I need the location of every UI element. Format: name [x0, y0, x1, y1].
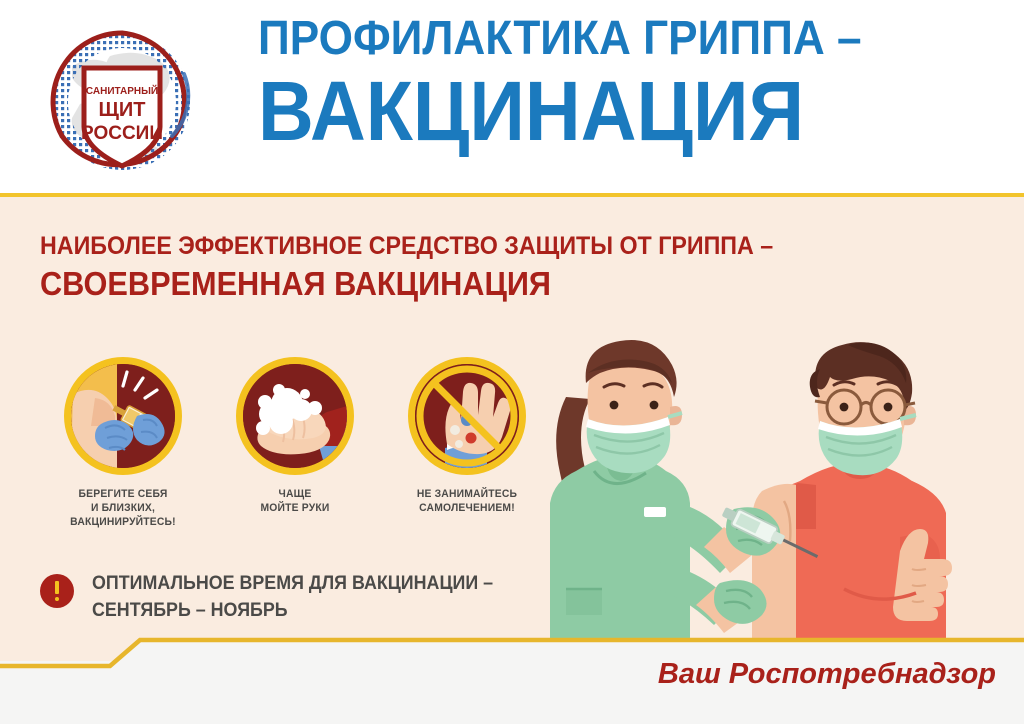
patient-figure — [752, 342, 952, 645]
title-line-2: ВАКЦИНАЦИЯ — [258, 66, 902, 156]
nurse-vaccinating-patient-illustration — [548, 321, 1024, 661]
advice-item: ЧАЩЕ МОЙТЕ РУКИ — [210, 357, 380, 515]
logo-line2: ЩИТ — [99, 99, 146, 121]
advice-caption: БЕРЕГИТЕ СЕБЯ И БЛИЗКИХ, ВАКЦИНИРУЙТЕСЬ! — [43, 487, 203, 529]
advice-caption-line: МОЙТЕ РУКИ — [215, 501, 375, 515]
note-line-1: ОПТИМАЛЬНОЕ ВРЕМЯ ДЛЯ ВАКЦИНАЦИИ – — [92, 570, 493, 597]
advice-caption: НЕ ЗАНИМАЙТЕСЬ САМОЛЕЧЕНИЕМ! — [387, 487, 547, 515]
advice-caption-line: НЕ ЗАНИМАЙТЕСЬ — [387, 487, 547, 501]
subheading-line-1: НАИБОЛЕЕ ЭФФЕКТИВНОЕ СРЕДСТВО ЗАЩИТЫ ОТ … — [40, 229, 710, 263]
advice-caption: ЧАЩЕ МОЙТЕ РУКИ — [215, 487, 375, 515]
subheading-line-2: СВОЕВРЕМЕННАЯ ВАКЦИНАЦИЯ — [40, 263, 710, 305]
poster-root: САНИТАРНЫЙ ЩИТ РОССИИ ПРОФИЛАКТИКА ГРИПП… — [0, 0, 1024, 724]
exclamation-icon — [40, 574, 74, 608]
note-text: ОПТИМАЛЬНОЕ ВРЕМЯ ДЛЯ ВАКЦИНАЦИИ – СЕНТЯ… — [92, 570, 493, 624]
advice-caption-line: ЧАЩЕ — [215, 487, 375, 501]
no-self-medication-icon — [408, 357, 526, 475]
logo-line1: САНИТАРНЫЙ — [86, 84, 158, 97]
advice-icon-row: БЕРЕГИТЕ СЕБЯ И БЛИЗКИХ, ВАКЦИНИРУЙТЕСЬ! — [38, 357, 558, 537]
advice-caption-line: И БЛИЗКИХ, — [43, 501, 203, 515]
poster-title: ПРОФИЛАКТИКА ГРИППА – ВАКЦИНАЦИЯ — [258, 12, 958, 156]
advice-caption-line: ВАКЦИНИРУЙТЕСЬ! — [43, 515, 203, 529]
footer-text: Ваш Роспотребнадзор — [658, 658, 996, 691]
title-line-1: ПРОФИЛАКТИКА ГРИППА – — [258, 12, 902, 66]
advice-caption-line: БЕРЕГИТЕ СЕБЯ — [43, 487, 203, 501]
washing-hands-icon — [236, 357, 354, 475]
exclamation-bar — [55, 581, 59, 594]
advice-item: НЕ ЗАНИМАЙТЕСЬ САМОЛЕЧЕНИЕМ! — [382, 357, 552, 515]
subheading: НАИБОЛЕЕ ЭФФЕКТИВНОЕ СРЕДСТВО ЗАЩИТЫ ОТ … — [40, 229, 760, 305]
note-line-2: СЕНТЯБРЬ – НОЯБРЬ — [92, 597, 493, 624]
poster-header: САНИТАРНЫЙ ЩИТ РОССИИ ПРОФИЛАКТИКА ГРИПП… — [0, 0, 1024, 195]
poster-body: НАИБОЛЕЕ ЭФФЕКТИВНОЕ СРЕДСТВО ЗАЩИТЫ ОТ … — [0, 197, 1024, 661]
logo-line3: РОССИИ — [81, 123, 163, 144]
advice-caption-line: САМОЛЕЧЕНИЕМ! — [387, 501, 547, 515]
poster-footer: Ваш Роспотребнадзор — [0, 630, 1024, 724]
sanitary-shield-logo: САНИТАРНЫЙ ЩИТ РОССИИ — [36, 22, 208, 182]
vaccination-syringe-icon — [64, 357, 182, 475]
exclamation-dot — [55, 597, 59, 601]
advice-item: БЕРЕГИТЕ СЕБЯ И БЛИЗКИХ, ВАКЦИНИРУЙТЕСЬ! — [38, 357, 208, 529]
